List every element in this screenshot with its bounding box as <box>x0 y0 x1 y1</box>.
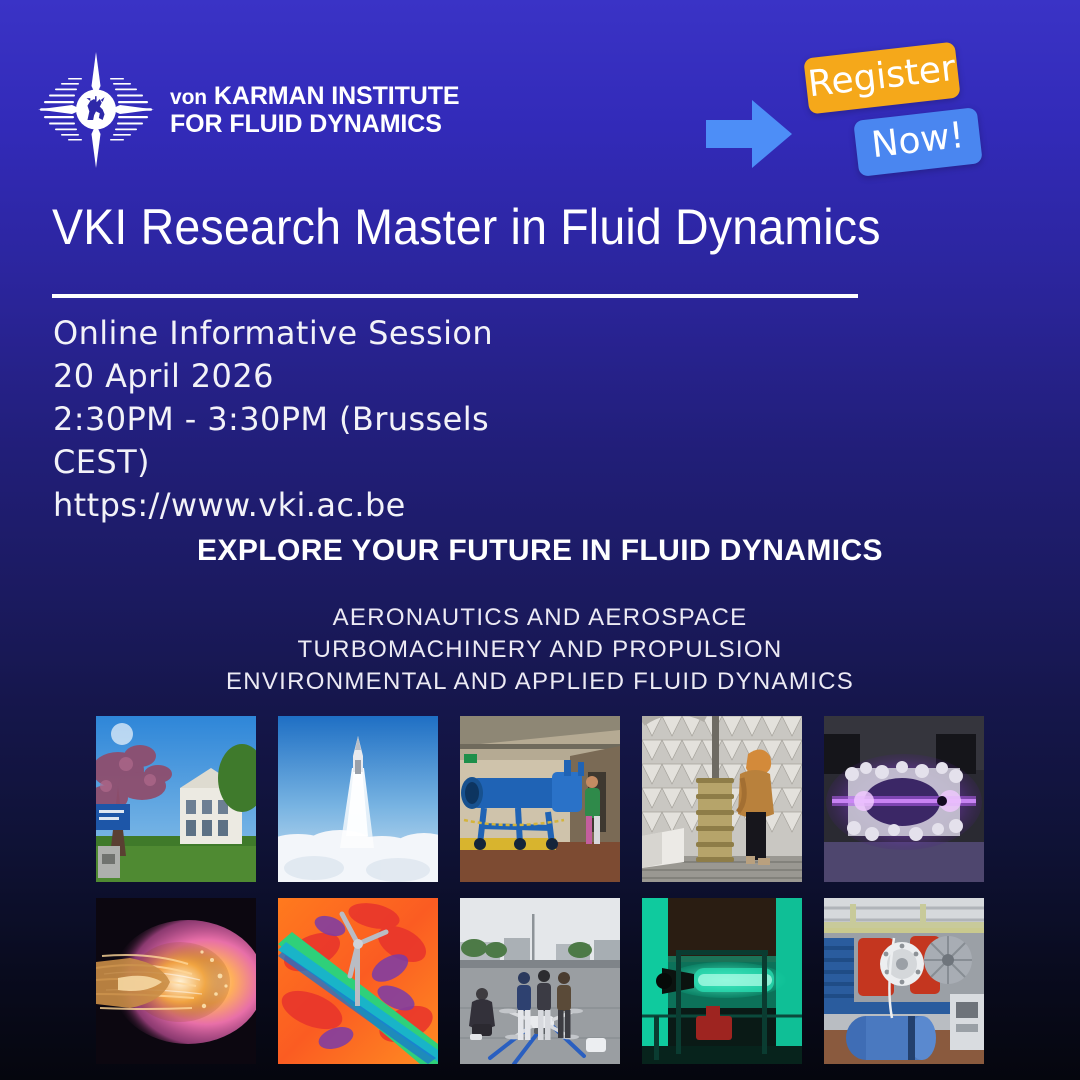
session-time-1: 2:30PM - 3:30PM (Brussels <box>53 398 613 441</box>
now-badge[interactable]: Now! <box>853 107 983 177</box>
photo-green-laser-piv <box>642 898 802 1064</box>
register-badge[interactable]: Register <box>803 42 960 115</box>
logo-for-fluid-dynamics: FOR FLUID DYNAMICS <box>170 110 460 138</box>
photo-blue-wind-tunnel <box>460 716 620 882</box>
photo-grid <box>96 716 984 1064</box>
page-title: VKI Research Master in Fluid Dynamics <box>52 198 889 256</box>
tagline: EXPLORE YOUR FUTURE IN FLUID DYNAMICS <box>0 534 1080 568</box>
session-time-2: CEST) <box>53 441 613 484</box>
discipline-list: AERONAUTICS AND AEROSPACE TURBOMACHINERY… <box>0 602 1080 698</box>
photo-anechoic-chamber <box>642 716 802 882</box>
vki-logo: von KARMAN INSTITUTE FOR FLUID DYNAMICS <box>38 52 460 168</box>
session-url[interactable]: https://www.vki.ac.be <box>53 484 613 527</box>
title-divider <box>52 294 858 298</box>
session-details: Online Informative Session 20 April 2026… <box>53 312 613 527</box>
logo-von: von <box>170 86 207 109</box>
discipline-aeronautics: AERONAUTICS AND AEROSPACE <box>0 602 1080 634</box>
session-date: 20 April 2026 <box>53 355 613 398</box>
photo-rocket-launch <box>278 716 438 882</box>
discipline-turbomachinery: TURBOMACHINERY AND PROPULSION <box>0 634 1080 666</box>
logo-karman-institute: KARMAN INSTITUTE <box>214 82 460 110</box>
discipline-environmental: ENVIRONMENTAL AND APPLIED FLUID DYNAMICS <box>0 666 1080 698</box>
photo-reentry-plasma <box>96 898 256 1064</box>
photo-campus-building <box>96 716 256 882</box>
session-event-name: Online Informative Session <box>53 312 613 355</box>
poster-canvas: von KARMAN INSTITUTE FOR FLUID DYNAMICS … <box>0 0 1080 1080</box>
photo-turbomachinery-rig <box>824 898 984 1064</box>
photo-plasma-purple-jet <box>824 716 984 882</box>
vki-compass-star-lion-logo-icon <box>38 52 154 168</box>
photo-drone-field-test <box>460 898 620 1064</box>
vki-logo-wordmark: von KARMAN INSTITUTE FOR FLUID DYNAMICS <box>170 82 460 138</box>
poster-header: von KARMAN INSTITUTE FOR FLUID DYNAMICS … <box>0 0 1080 190</box>
photo-wind-turbine-cfd <box>278 898 438 1064</box>
right-arrow-icon <box>706 100 792 168</box>
